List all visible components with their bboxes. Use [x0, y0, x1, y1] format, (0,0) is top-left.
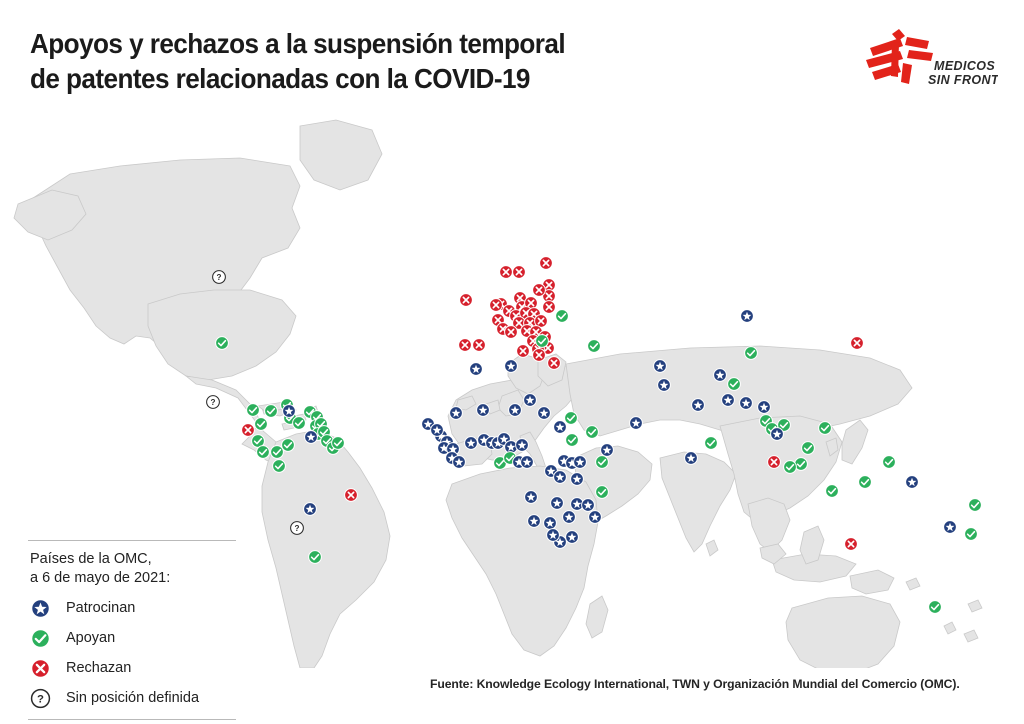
star-badge-icon [524, 394, 537, 407]
legend-bottom-rule [28, 719, 236, 720]
map-marker-rechazan[interactable]: Dinamarca [533, 284, 546, 297]
legend-item-label: Rechazan [66, 660, 131, 676]
svg-text:?: ? [295, 524, 300, 533]
star-badge-icon [582, 499, 595, 512]
question-badge-icon: ? [207, 396, 220, 409]
msf-running-figure-icon [866, 29, 933, 84]
x-badge-icon [242, 424, 255, 437]
map-marker-apoyan[interactable]: Filipinas [802, 442, 815, 455]
star-badge-icon [758, 401, 771, 414]
star-badge-icon [554, 471, 567, 484]
msf-logo-line2: SIN FRONTERAS [928, 73, 998, 87]
map-marker-apoyan[interactable]: Costa Rica [257, 446, 270, 459]
map-marker-patrocinan[interactable]: India [692, 399, 705, 412]
map-marker-patrocinan[interactable]: Bolivia [304, 503, 317, 516]
check-badge-icon [536, 335, 549, 348]
legend-title: Países de la OMC, a 6 de mayo de 2021: [28, 541, 236, 593]
map-marker-patrocinan[interactable]: Vanuatu [944, 521, 957, 534]
legend-item-apoyan[interactable]: Apoyan [28, 623, 236, 653]
star-badge-icon [685, 452, 698, 465]
map-marker-apoyan[interactable]: Eritrea [565, 412, 578, 425]
map-marker-patrocinan[interactable]: Mozambique [582, 499, 595, 512]
map-marker-apoyan[interactable]: Argentina [309, 551, 322, 564]
map-marker-rechazan[interactable]: Grecia [533, 349, 546, 362]
map-marker-patrocinan[interactable]: Chad [509, 404, 522, 417]
check-badge-icon [745, 347, 758, 360]
x-badge-icon [459, 339, 472, 352]
check-badge-icon [282, 439, 295, 452]
star-badge-icon [544, 517, 557, 530]
map-marker-patrocinan[interactable]: Pakistan [654, 360, 667, 373]
map-marker-apoyan[interactable]: Mauricio [596, 486, 609, 499]
map-marker-patrocinan[interactable]: Pakistan sur [658, 379, 671, 392]
x-badge-icon-wrap [28, 658, 66, 679]
map-marker-rechazan[interactable]: Portugal [459, 339, 472, 352]
map-marker-rechazan[interactable]: Noruega [500, 266, 513, 279]
map-marker-patrocinan[interactable]: Myanmar [740, 397, 753, 410]
x-badge-icon [460, 294, 473, 307]
map-marker-apoyan[interactable]: China [745, 347, 758, 360]
star-badge-icon [305, 431, 318, 444]
map-marker-patrocinan[interactable]: Mali [450, 407, 463, 420]
map-marker-patrocinan[interactable]: Sudan del Sur [554, 421, 567, 434]
map-marker-patrocinan[interactable]: Niger oeste [477, 404, 490, 417]
question-badge-icon: ? [291, 522, 304, 535]
msf-logo-line1: MEDICOS [934, 59, 995, 73]
map-marker-apoyan[interactable]: Papua Nueva Guinea [859, 476, 872, 489]
star-badge-icon [521, 456, 534, 469]
map-marker-apoyan[interactable]: Indonesia [826, 485, 839, 498]
map-marker-apoyan[interactable]: Surinam [332, 437, 345, 450]
star-badge-icon [944, 521, 957, 534]
map-marker-patrocinan[interactable]: Zambia [551, 497, 564, 510]
map-marker-apoyan[interactable]: Fiyi [969, 499, 982, 512]
map-marker-patrocinan[interactable]: Lesoto [547, 529, 560, 542]
map-marker-apoyan[interactable]: Estados Unidos [216, 337, 229, 350]
map-marker-apoyan[interactable]: Taiwan [819, 422, 832, 435]
star-badge-icon [740, 397, 753, 410]
map-marker-rechazan[interactable]: Irlanda 2 [490, 299, 503, 312]
map-marker-patrocinan[interactable]: Mauritania [431, 424, 444, 437]
check-badge-icon [705, 437, 718, 450]
map-marker-patrocinan[interactable]: Egipto [524, 394, 537, 407]
check-badge-icon [728, 378, 741, 391]
x-badge-icon [543, 301, 556, 314]
source-note: Fuente: Knowledge Ecology International,… [430, 677, 960, 691]
star-badge-icon [692, 399, 705, 412]
map-marker-rechazan[interactable]: El Salvador [242, 424, 255, 437]
check-badge-icon [293, 417, 306, 430]
map-marker-patrocinan[interactable]: Yemen [601, 444, 614, 457]
map-marker-patrocinan[interactable]: Sudan [538, 407, 551, 420]
map-marker-patrocinan[interactable]: Jamaica [283, 405, 296, 418]
check-badge-icon [586, 426, 599, 439]
check-badge-icon [596, 486, 609, 499]
check-badge-icon [969, 499, 982, 512]
map-marker-patrocinan[interactable]: Botsuana [544, 517, 557, 530]
header: Apoyos y rechazos a la suspensión tempor… [0, 0, 1024, 110]
legend-item-rechazan[interactable]: Rechazan [28, 653, 236, 683]
check-badge-icon [271, 446, 284, 459]
map-marker-patrocinan[interactable]: Maldivas [685, 452, 698, 465]
map-marker-apoyan[interactable]: Turquia [588, 340, 601, 353]
map-marker-rechazan[interactable]: Brasil [345, 489, 358, 502]
x-badge-icon [517, 345, 530, 358]
svg-text:?: ? [217, 273, 222, 282]
star-badge-icon [470, 363, 483, 376]
x-badge-icon [768, 456, 781, 469]
question-badge-icon: ? [213, 271, 226, 284]
check-badge-icon [273, 460, 286, 473]
star-badge-icon [30, 598, 51, 619]
map-marker-apoyan[interactable]: Belice [247, 404, 260, 417]
star-badge-icon [574, 456, 587, 469]
map-marker-apoyan[interactable]: Malasia [784, 461, 797, 474]
check-badge-icon [929, 601, 942, 614]
check-badge-icon [216, 337, 229, 350]
check-badge-icon [556, 310, 569, 323]
legend-item-label: Apoyan [66, 630, 115, 646]
map-marker-rechazan[interactable]: Suecia [513, 266, 526, 279]
legend-item-patrocinan[interactable]: Patrocinan [28, 593, 236, 623]
infographic-root: Apoyos y rechazos a la suspensión tempor… [0, 0, 1024, 724]
map-marker-rechazan[interactable]: Italia norte [505, 326, 518, 339]
x-badge-icon [513, 266, 526, 279]
star-badge-icon [465, 437, 478, 450]
map-marker-rechazan[interactable]: Lituania [543, 301, 556, 314]
star-badge-icon [304, 503, 317, 516]
star-badge-icon [554, 421, 567, 434]
map-marker-apoyan[interactable]: Yibuti [586, 426, 599, 439]
map-marker-patrocinan[interactable]: Tunez [505, 360, 518, 373]
map-marker-patrocinan[interactable]: Mongolia [741, 310, 754, 323]
map-marker-rechazan[interactable]: Australia [845, 538, 858, 551]
map-marker-patrocinan[interactable]: Camerun [516, 439, 529, 452]
page-title: Apoyos y rechazos a la suspensión tempor… [30, 26, 695, 96]
star-badge-icon [601, 444, 614, 457]
check-badge-icon [566, 434, 579, 447]
check-badge-icon [826, 485, 839, 498]
msf-logo: MEDICOS SIN FRONTERAS [862, 28, 998, 90]
star-badge-icon [741, 310, 754, 323]
x-badge-icon [473, 339, 486, 352]
star-badge-icon [516, 439, 529, 452]
map-marker-apoyan[interactable]: Tonga [965, 528, 978, 541]
map-marker-patrocinan[interactable]: Costa de Marfil [465, 437, 478, 450]
map-marker-rechazan[interactable]: Finlandia [540, 257, 553, 270]
map-marker-patrocinan[interactable]: Tanzania [554, 471, 567, 484]
star-badge-icon [563, 511, 576, 524]
check-badge-icon [819, 422, 832, 435]
map-marker-apoyan[interactable]: Italia [536, 335, 549, 348]
legend-item-label: Sin posición definida [66, 690, 199, 706]
star-badge-icon [654, 360, 667, 373]
check-badge-icon-wrap [28, 628, 66, 649]
svg-text:?: ? [37, 693, 44, 705]
check-badge-icon [965, 528, 978, 541]
x-badge-icon [851, 337, 864, 350]
x-badge-icon [533, 349, 546, 362]
map-marker-patrocinan[interactable]: Rep. Centroafricana [521, 456, 534, 469]
svg-text:?: ? [211, 398, 216, 407]
star-badge-icon [630, 417, 643, 430]
star-badge-icon [571, 473, 584, 486]
check-badge-icon [247, 404, 260, 417]
map-marker-patrocinan[interactable]: Zimbabue [563, 511, 576, 524]
map-marker-apoyan[interactable]: Sri Lanka [705, 437, 718, 450]
x-badge-icon [345, 489, 358, 502]
map-marker-rechazan[interactable]: Japon [851, 337, 864, 350]
map-marker-apoyan[interactable]: Islas Pacifico [883, 456, 896, 469]
map-marker-apoyan[interactable]: Ecuador [273, 460, 286, 473]
map-marker-patrocinan[interactable]: Bangladesh [722, 394, 735, 407]
map-marker-patrocinan[interactable]: Venezuela [305, 431, 318, 444]
check-badge-icon [265, 405, 278, 418]
star-badge-icon [906, 476, 919, 489]
map-marker-rechazan[interactable]: Singapur [768, 456, 781, 469]
check-badge-icon [883, 456, 896, 469]
map-marker-patrocinan[interactable]: Marruecos [470, 363, 483, 376]
check-badge-icon [802, 442, 815, 455]
check-badge-icon [565, 412, 578, 425]
legend-item-sin-posicion[interactable]: ?Sin posición definida [28, 683, 236, 713]
map-marker-patrocinan[interactable]: Somalia [574, 456, 587, 469]
legend-items: PatrocinanApoyanRechazan?Sin posición de… [28, 593, 236, 719]
star-badge-icon [658, 379, 671, 392]
star-badge-icon [283, 405, 296, 418]
star-badge-icon [547, 529, 560, 542]
x-badge-icon [533, 284, 546, 297]
map-marker-rechazan[interactable]: Espana [473, 339, 486, 352]
star-badge-icon [431, 424, 444, 437]
map-marker-apoyan[interactable]: Nueva Zelanda [929, 601, 942, 614]
check-badge-icon [255, 418, 268, 431]
star-badge-icon [589, 511, 602, 524]
map-marker-apoyan[interactable]: Colombia [282, 439, 295, 452]
star-badge-icon-wrap [28, 598, 66, 619]
star-badge-icon [509, 404, 522, 417]
check-badge-icon [784, 461, 797, 474]
map-marker-patrocinan[interactable]: Comoras [571, 473, 584, 486]
check-badge-icon [30, 628, 51, 649]
question-badge-icon: ? [30, 688, 51, 709]
map-marker-apoyan[interactable]: Ucrania [556, 310, 569, 323]
check-badge-icon [332, 437, 345, 450]
star-badge-icon [551, 497, 564, 510]
map-marker-apoyan[interactable]: Bhutan [728, 378, 741, 391]
legend-item-label: Patrocinan [66, 600, 135, 616]
legend: Países de la OMC, a 6 de mayo de 2021: P… [28, 540, 236, 720]
x-badge-icon [845, 538, 858, 551]
map-marker-apoyan[interactable]: Honduras [255, 418, 268, 431]
map-marker-patrocinan[interactable]: Liberia [453, 456, 466, 469]
star-badge-icon [722, 394, 735, 407]
x-badge-icon [500, 266, 513, 279]
map-marker-patrocinan[interactable]: Nepal [714, 369, 727, 382]
star-badge-icon [528, 515, 541, 528]
star-badge-icon [771, 428, 784, 441]
map-marker-patrocinan[interactable]: Omán [630, 417, 643, 430]
map-marker-patrocinan[interactable]: Camboya sur [771, 428, 784, 441]
x-badge-icon [540, 257, 553, 270]
star-badge-icon [525, 491, 538, 504]
map-marker-sin-posicion[interactable]: ?Mexico [207, 396, 220, 409]
map-marker-patrocinan[interactable]: Laos [758, 401, 771, 414]
check-badge-icon [859, 476, 872, 489]
star-badge-icon [450, 407, 463, 420]
map-marker-rechazan[interactable]: Islandia [460, 294, 473, 307]
map-marker-apoyan[interactable]: Cuba [265, 405, 278, 418]
check-badge-icon [596, 456, 609, 469]
map-marker-sin-posicion[interactable]: ?Chile [291, 522, 304, 535]
star-badge-icon [538, 407, 551, 420]
map-marker-rechazan[interactable]: Chipre [548, 357, 561, 370]
map-marker-patrocinan[interactable]: Madagascar [589, 511, 602, 524]
star-badge-icon [714, 369, 727, 382]
map-marker-rechazan[interactable]: Grecia oeste [517, 345, 530, 358]
x-badge-icon [490, 299, 503, 312]
map-marker-sin-posicion[interactable]: ?Canada [213, 271, 226, 284]
star-badge-icon [453, 456, 466, 469]
check-badge-icon [588, 340, 601, 353]
map-marker-apoyan[interactable]: Seychelles [596, 456, 609, 469]
star-badge-icon [477, 404, 490, 417]
x-badge-icon [30, 658, 51, 679]
map-marker-apoyan[interactable]: Panama [271, 446, 284, 459]
map-marker-patrocinan[interactable]: Islas Salomon [906, 476, 919, 489]
map-marker-patrocinan[interactable]: Namibia [528, 515, 541, 528]
map-marker-apoyan[interactable]: Etiopia [566, 434, 579, 447]
map-marker-patrocinan[interactable]: Esuatini [566, 531, 579, 544]
question-badge-icon-wrap: ? [28, 688, 66, 709]
star-badge-icon [566, 531, 579, 544]
check-badge-icon [309, 551, 322, 564]
x-badge-icon [548, 357, 561, 370]
star-badge-icon [505, 360, 518, 373]
map-marker-apoyan[interactable]: Republica Dominicana [293, 417, 306, 430]
check-badge-icon [257, 446, 270, 459]
x-badge-icon [505, 326, 518, 339]
map-marker-patrocinan[interactable]: Angola [525, 491, 538, 504]
